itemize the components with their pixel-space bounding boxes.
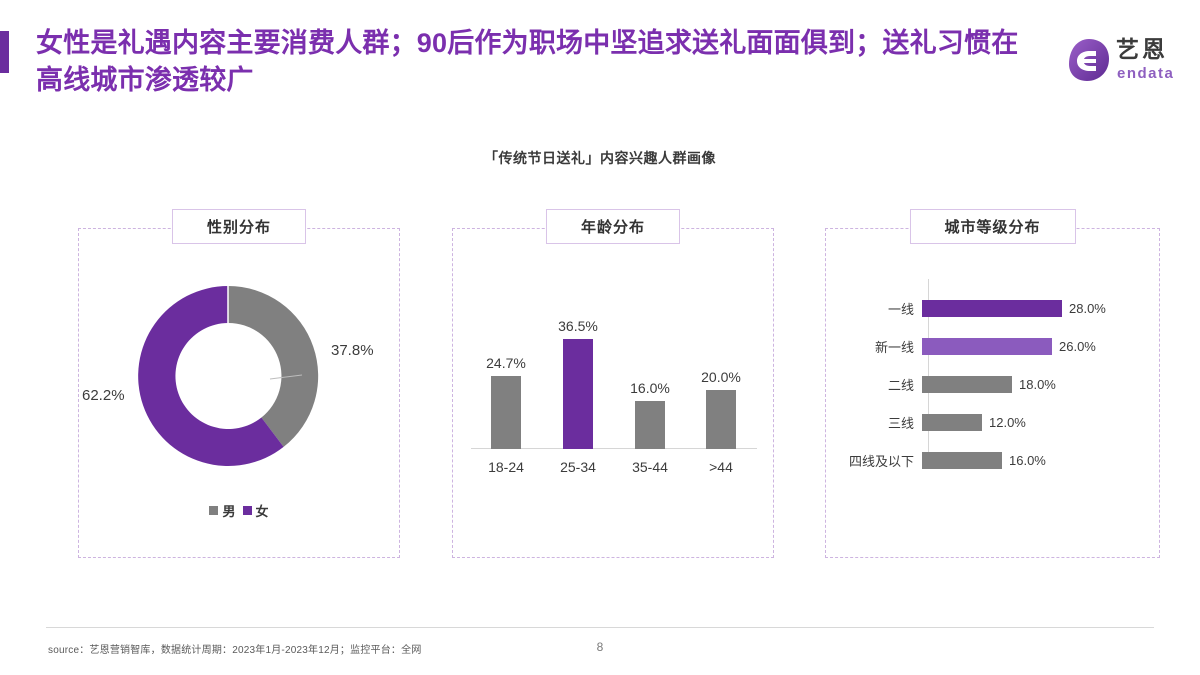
logo-english-name: endata (1117, 65, 1174, 82)
age-column-25-34: 36.5% 25-34 (543, 318, 613, 449)
city-bar-tier4-and-below (922, 452, 1002, 469)
endata-e-icon (1068, 38, 1110, 82)
city-bar-tier2 (922, 376, 1012, 393)
age-bar-18-24 (491, 376, 521, 449)
age-category-35-44: 35-44 (615, 449, 685, 475)
endata-logo: 艺恩 endata (1068, 36, 1190, 90)
city-row-tier1: 一线 28.0% (844, 297, 1144, 319)
age-bar-chart: 24.7% 18-24 36.5% 25-34 16.0% 35-44 20.0… (467, 265, 761, 485)
city-category-new-tier1: 新一线 (844, 337, 922, 356)
donut-label-female: 62.2% (82, 387, 125, 404)
age-value-35-44: 16.0% (615, 380, 685, 396)
age-category-18-24: 18-24 (471, 449, 541, 475)
age-value-25-34: 36.5% (543, 318, 613, 334)
age-value-over-44: 20.0% (686, 369, 756, 385)
city-row-tier2: 二线 18.0% (844, 373, 1144, 395)
panel-gender-distribution: 性别分布 37.8% 62.2% 男 女 (78, 228, 400, 558)
city-bar-chart: 一线 28.0% 新一线 26.0% 二线 18.0% 三线 12.0% 四线及… (844, 275, 1144, 485)
footer-divider (46, 627, 1154, 628)
panel-city-tier-distribution: 城市等级分布 一线 28.0% 新一线 26.0% 二线 18.0% 三线 12… (825, 228, 1160, 558)
age-column-over-44: 20.0% >44 (686, 369, 756, 449)
gender-donut-chart (130, 278, 326, 474)
age-category-25-34: 25-34 (543, 449, 613, 475)
city-bar-tier1 (922, 300, 1062, 317)
city-bar-tier3 (922, 414, 982, 431)
city-category-tier4-and-below: 四线及以下 (844, 451, 922, 470)
legend-swatch-female (243, 506, 252, 515)
donut-label-male: 37.8% (331, 342, 374, 359)
gender-legend: 男 女 (79, 501, 399, 520)
city-row-tier3: 三线 12.0% (844, 411, 1144, 433)
age-bar-over-44 (706, 390, 736, 449)
panel-age-distribution: 年龄分布 24.7% 18-24 36.5% 25-34 16.0% 35-44… (452, 228, 774, 558)
logo-chinese-name: 艺恩 (1116, 36, 1168, 64)
page-title: 女性是礼遇内容主要消费人群；90后作为职场中坚追求送礼面面俱到；送礼习惯在高线城… (36, 25, 1036, 100)
age-bar-25-34 (563, 339, 593, 449)
city-value-tier3: 12.0% (982, 415, 1026, 430)
legend-label-female: 女 (256, 501, 269, 520)
page-number: 8 (0, 640, 1200, 654)
city-category-tier3: 三线 (844, 413, 922, 432)
panel-title-city: 城市等级分布 (909, 209, 1075, 244)
legend-item-male: 男 (209, 501, 235, 520)
city-value-tier1: 28.0% (1062, 301, 1106, 316)
panel-title-gender: 性别分布 (172, 209, 306, 244)
city-value-new-tier1: 26.0% (1052, 339, 1096, 354)
legend-label-male: 男 (222, 501, 235, 520)
legend-swatch-male (209, 506, 218, 515)
city-category-tier2: 二线 (844, 375, 922, 394)
legend-item-female: 女 (243, 501, 269, 520)
city-row-new-tier1: 新一线 26.0% (844, 335, 1144, 357)
age-column-18-24: 24.7% 18-24 (471, 355, 541, 449)
age-bar-35-44 (635, 401, 665, 449)
city-value-tier2: 18.0% (1012, 377, 1056, 392)
city-category-tier1: 一线 (844, 299, 922, 318)
title-accent-bar (0, 31, 9, 73)
city-value-tier4-and-below: 16.0% (1002, 453, 1046, 468)
chart-group-subtitle: 「传统节日送礼」内容兴趣人群画像 (0, 148, 1200, 168)
age-category-over-44: >44 (686, 449, 756, 475)
page-header: 女性是礼遇内容主要消费人群；90后作为职场中坚追求送礼面面俱到；送礼习惯在高线城… (0, 0, 1200, 130)
age-value-18-24: 24.7% (471, 355, 541, 371)
panel-title-age: 年龄分布 (546, 209, 680, 244)
city-bar-new-tier1 (922, 338, 1052, 355)
age-column-35-44: 16.0% 35-44 (615, 380, 685, 449)
city-row-tier4-and-below: 四线及以下 16.0% (844, 449, 1144, 471)
